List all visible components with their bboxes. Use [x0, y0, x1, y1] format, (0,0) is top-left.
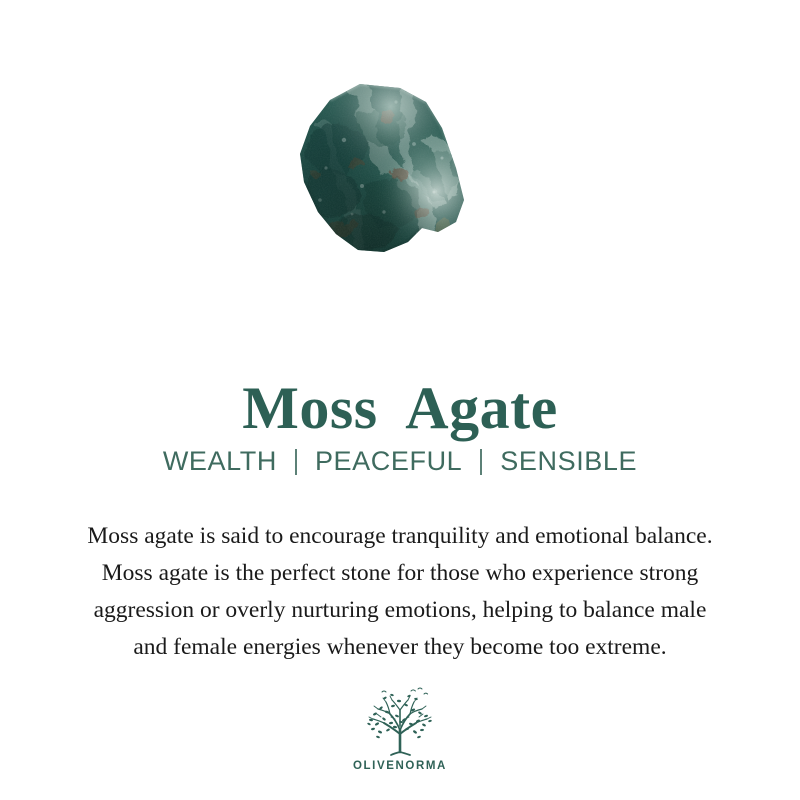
- description-line-1: Moss agate is said to encourage tranquil…: [40, 518, 760, 555]
- keyword-list: WEALTH PEACEFUL SENSIBLE: [0, 446, 800, 477]
- description-line-4: and female energies whenever they become…: [40, 629, 760, 666]
- birds-icon: [382, 688, 428, 694]
- product-info-card: Moss Agate WEALTH PEACEFUL SENSIBLE Moss…: [0, 0, 800, 800]
- olive-tree-icon: [361, 686, 439, 758]
- page-title: Moss Agate: [0, 376, 800, 441]
- brand-wordmark: OLIVENORMA: [353, 760, 447, 772]
- keyword-peaceful: PEACEFUL: [315, 446, 462, 477]
- keyword-separator-1: [295, 449, 297, 475]
- stone-illustration: [296, 82, 468, 258]
- description-text: Moss agate is said to encourage tranquil…: [40, 518, 760, 666]
- keyword-separator-2: [480, 449, 482, 475]
- keyword-wealth: WEALTH: [163, 446, 277, 477]
- brand-logo: OLIVENORMA: [0, 686, 800, 772]
- keyword-sensible: SENSIBLE: [500, 446, 637, 477]
- description-line-2: Moss agate is the perfect stone for thos…: [40, 555, 760, 592]
- moss-agate-stone-image: [296, 82, 468, 258]
- stone-body: [296, 82, 468, 258]
- description-line-3: aggression or overly nurturing emotions,…: [40, 592, 760, 629]
